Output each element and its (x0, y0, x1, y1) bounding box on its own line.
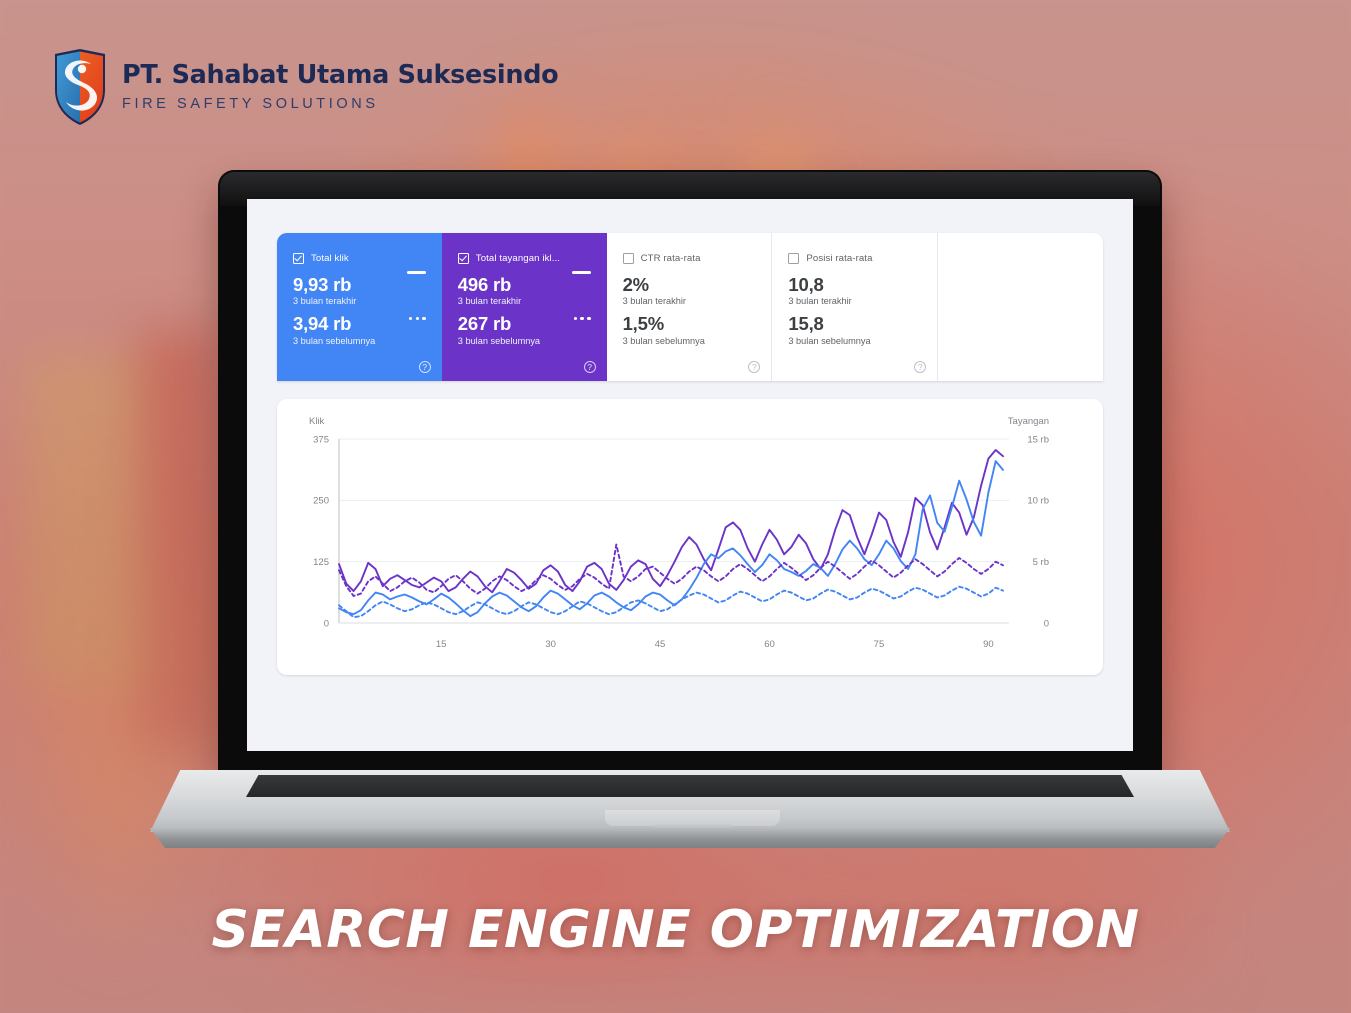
page-title: SEARCH ENGINE OPTIMIZATION (0, 900, 1351, 960)
dots-icon[interactable] (409, 317, 426, 320)
laptop-keyboard (246, 775, 1134, 797)
performance-line-chart: KlikTayangan012525037505 rb10 rb15 rb153… (277, 399, 1103, 675)
svg-text:60: 60 (764, 639, 775, 650)
metric-card-total-tayangan[interactable]: Total tayangan ikl... 496 rb 3 bulan ter… (442, 233, 607, 381)
search-console-dashboard: Total klik 9,93 rb 3 bulan terakhir 3,94… (247, 199, 1133, 751)
svg-text:Tayangan: Tayangan (1008, 416, 1049, 427)
metric-previous-period: 3 bulan sebelumnya (623, 336, 756, 346)
help-icon[interactable]: ? (584, 361, 596, 373)
brand-name: PT. Sahabat Utama Suksesindo (122, 63, 558, 89)
svg-text:250: 250 (313, 496, 329, 507)
metric-label: CTR rata-rata (641, 253, 701, 264)
metric-card-header: CTR rata-rata (623, 250, 756, 266)
metric-card-header: Total klik (293, 250, 426, 266)
metric-previous-value: 15,8 (788, 314, 921, 333)
svg-text:10 rb: 10 rb (1027, 496, 1049, 507)
metric-previous-value: 3,94 rb (293, 314, 426, 333)
laptop-screen: Total klik 9,93 rb 3 bulan terakhir 3,94… (247, 199, 1133, 751)
brand-tagline: FIRE SAFETY SOLUTIONS (122, 97, 558, 112)
laptop-base-top (150, 770, 1230, 832)
metric-card-header: Total tayangan ikl... (458, 250, 591, 266)
svg-text:0: 0 (1044, 618, 1049, 629)
metric-cards-row: Total klik 9,93 rb 3 bulan terakhir 3,94… (277, 233, 1103, 381)
metric-label: Total klik (311, 253, 349, 264)
metric-card-total-klik[interactable]: Total klik 9,93 rb 3 bulan terakhir 3,94… (277, 233, 442, 381)
metric-current-value: 2% (623, 275, 756, 294)
help-icon[interactable]: ? (914, 361, 926, 373)
metric-previous-value: 267 rb (458, 314, 591, 333)
checkbox-icon[interactable] (458, 253, 469, 264)
help-icon[interactable]: ? (419, 361, 431, 373)
metric-current-period: 3 bulan terakhir (788, 296, 921, 306)
metric-card-header: Posisi rata-rata (788, 250, 921, 266)
svg-text:0: 0 (324, 618, 329, 629)
svg-text:15: 15 (436, 639, 447, 650)
laptop-base-lip (150, 828, 1230, 848)
svg-text:75: 75 (874, 639, 885, 650)
laptop-lid: Total klik 9,93 rb 3 bulan terakhir 3,94… (218, 170, 1162, 778)
checkbox-icon[interactable] (788, 253, 799, 264)
laptop-mockup: Total klik 9,93 rb 3 bulan terakhir 3,94… (218, 170, 1162, 860)
metric-previous-value: 1,5% (623, 314, 756, 333)
metric-card-posisi[interactable]: Posisi rata-rata 10,8 3 bulan terakhir 1… (772, 233, 938, 381)
shield-s-logo-icon (52, 48, 108, 126)
performance-chart-card: KlikTayangan012525037505 rb10 rb15 rb153… (277, 399, 1103, 675)
metric-label: Posisi rata-rata (806, 253, 872, 264)
metric-current-value: 9,93 rb (293, 275, 426, 294)
dots-icon[interactable] (574, 317, 591, 320)
dash-icon (572, 271, 591, 274)
svg-text:Klik: Klik (309, 416, 325, 427)
svg-text:30: 30 (545, 639, 556, 650)
svg-text:375: 375 (313, 434, 329, 445)
metric-previous-period: 3 bulan sebelumnya (458, 336, 591, 346)
svg-text:45: 45 (655, 639, 666, 650)
checkbox-icon[interactable] (623, 253, 634, 264)
help-icon[interactable]: ? (748, 361, 760, 373)
metric-previous-period: 3 bulan sebelumnya (293, 336, 426, 346)
svg-text:5 rb: 5 rb (1033, 557, 1049, 568)
metric-previous-period: 3 bulan sebelumnya (788, 336, 921, 346)
metric-card-empty-slot (938, 233, 1103, 381)
svg-text:125: 125 (313, 557, 329, 568)
metric-current-period: 3 bulan terakhir (458, 296, 591, 306)
checkbox-icon[interactable] (293, 253, 304, 264)
metric-current-value: 10,8 (788, 275, 921, 294)
dash-icon (407, 271, 426, 274)
metric-card-ctr[interactable]: CTR rata-rata 2% 3 bulan terakhir 1,5% 3… (607, 233, 773, 381)
laptop-base (150, 770, 1230, 862)
metric-current-value: 496 rb (458, 275, 591, 294)
metric-current-period: 3 bulan terakhir (623, 296, 756, 306)
svg-text:15 rb: 15 rb (1027, 434, 1049, 445)
brand-logo: PT. Sahabat Utama Suksesindo FIRE SAFETY… (52, 48, 558, 126)
metric-label: Total tayangan ikl... (476, 253, 560, 264)
svg-text:90: 90 (983, 639, 994, 650)
metric-current-period: 3 bulan terakhir (293, 296, 426, 306)
